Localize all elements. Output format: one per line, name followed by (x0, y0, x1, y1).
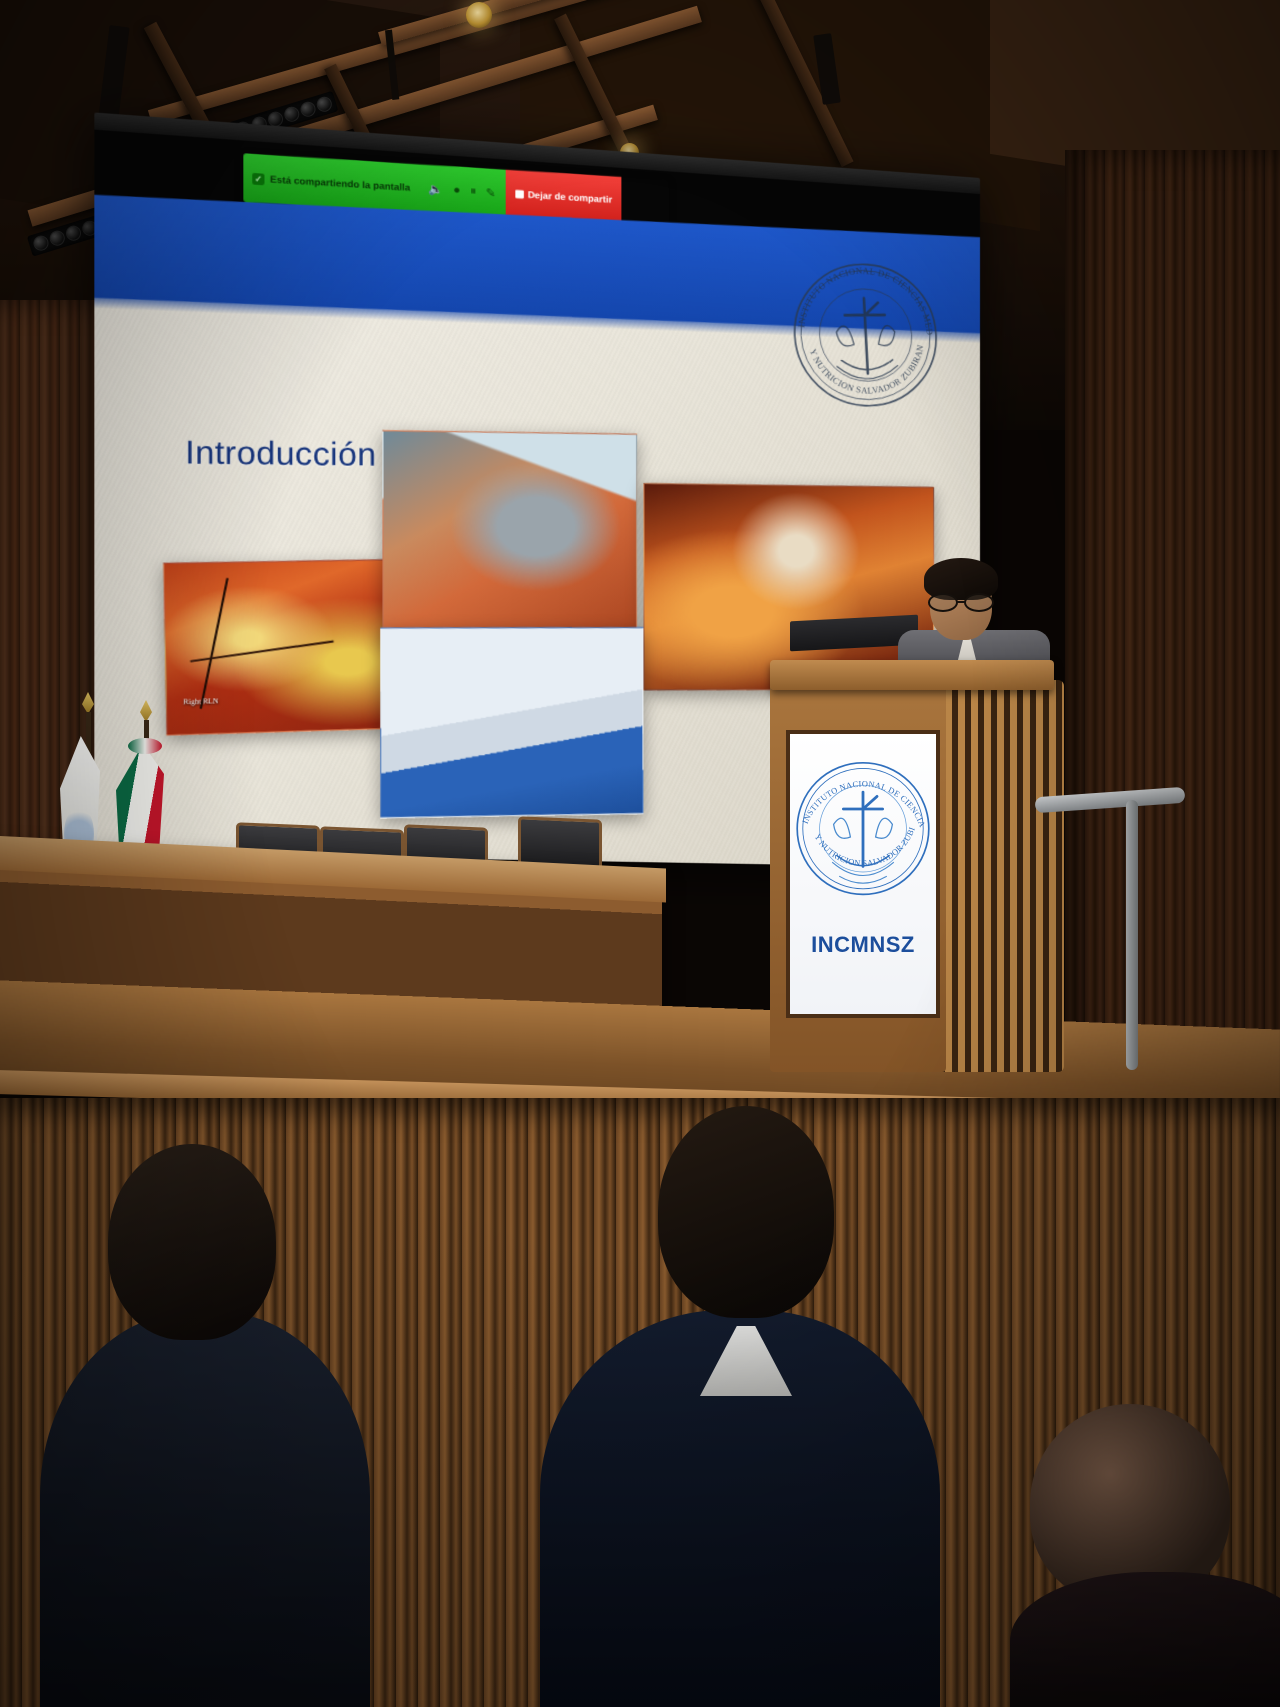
podium-slats (932, 680, 1064, 1072)
audience-body (40, 1312, 370, 1707)
share-toolbar-icons[interactable]: 🔈 ● ⏸ ✎ (419, 164, 505, 217)
wall-right-paneling (1065, 150, 1280, 1070)
slide-title: Introducción (185, 434, 376, 474)
podium-logo-panel: INSTITUTO NACIONAL DE CIENCIAS MEDICAS Y… (786, 730, 940, 1018)
check-icon: ✓ (252, 172, 264, 184)
clipboard-documentation-bottom (380, 627, 643, 818)
auditorium-photo: ✓ Está compartiendo la pantalla 🔈 ● ⏸ ✎ … (0, 0, 1280, 1707)
annotate-icon[interactable]: ✎ (486, 185, 496, 199)
podium: INSTITUTO NACIONAL DE CIENCIAS MEDICAS Y… (762, 660, 1062, 1072)
stage-handrail-post (1126, 800, 1138, 1070)
audience-member-left (40, 1130, 370, 1707)
mute-icon[interactable]: 🔈 (429, 182, 444, 196)
audience-member-center (540, 1098, 940, 1707)
downlight-icon (282, 105, 301, 124)
downlight-icon (48, 229, 67, 248)
audience-head (658, 1106, 834, 1318)
flag-ribbon (128, 738, 162, 754)
pause-icon[interactable]: ⏸ (470, 184, 476, 198)
institute-seal-icon: INSTITUTO NACIONAL DE CIENCIAS MEDICAS Y… (793, 730, 933, 930)
audience-head (108, 1144, 276, 1340)
podium-top-surface (770, 660, 1054, 690)
ceiling-spotlight (466, 2, 492, 28)
podium-acronym: INCMNSZ (811, 932, 915, 958)
video-icon[interactable]: ● (453, 184, 460, 197)
audience-body (1010, 1572, 1280, 1707)
downlight-icon (299, 100, 318, 119)
surgical-field-left: Right RLN (163, 559, 401, 736)
stop-share-label: Dejar de compartir (528, 189, 612, 204)
eyeglasses-icon (928, 594, 994, 610)
downlight-icon (64, 224, 83, 243)
photo-caption: Right RLN (183, 697, 218, 706)
downlight-icon (315, 95, 334, 114)
sharing-status-label: Está compartiendo la pantalla (270, 174, 410, 193)
audience-member-right (1010, 1404, 1280, 1707)
downlight-icon (32, 234, 51, 253)
stop-square-icon (515, 190, 524, 199)
nerve-monitoring-probe-top (382, 430, 637, 642)
